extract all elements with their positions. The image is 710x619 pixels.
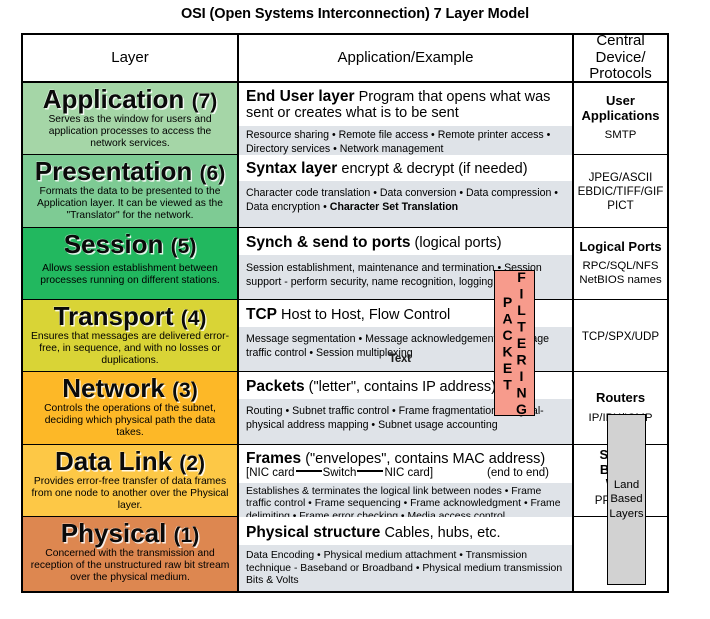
layer-cell-session: Session (5) Allows session establishment… [23,228,239,300]
header-central-device: Central Device/ Protocols [574,35,667,81]
layer-number: (6) [200,162,226,185]
app-headline-bold: TCP [246,306,277,323]
app-headline-rest: encrypt & decrypt (if needed) [341,161,527,177]
link-dash-icon [357,470,383,472]
layer-title-network: Network (3) [62,375,197,401]
layer-name-text: Presentation [35,156,193,186]
layer-name-text: Transport [54,301,174,331]
layer-number: (1) [174,524,200,547]
layer-description-datalink: Provides error-free transfer of data fra… [27,476,233,512]
app-headline-physical: Physical structure Cables, hubs, etc. [239,517,572,545]
land-based-line1: Land [609,478,643,493]
app-headline-bold: Frames [246,450,301,467]
layer-title-presentation: Presentation (6) [35,158,225,184]
layer-title-application: Application (7) [43,86,217,112]
land-based-line2: Based [609,492,643,507]
layer-description-transport: Ensures that messages are delivered erro… [27,331,233,367]
device-protocol-line3: PICT [578,199,664,213]
layer-description-physical: Concerned with the transmission and rece… [27,548,233,584]
app-detail-physical: Data Encoding • Physical medium attachme… [239,545,572,591]
app-headline-rest: ("letter", contains IP address) [309,379,496,395]
layer-cell-network: Network (3) Controls the operations of t… [23,372,239,445]
app-cell-application: End User layer Program that opens what w… [239,83,574,155]
layer-cell-presentation: Presentation (6) Formats the data to be … [23,155,239,228]
layer-title-datalink: Data Link (2) [55,448,205,474]
app-subline-right: (end to end) [487,467,549,481]
text-watermark-artifact: Text [389,353,411,365]
device-cell-session: Logical Ports RPC/SQL/NFS NetBIOS names [574,228,667,300]
table-header-row: Layer Application/Example Central Device… [23,35,667,83]
device-protocol-line2: EBDIC/TIFF/GIF [578,185,664,199]
osi-table: Layer Application/Example Central Device… [21,33,669,593]
app-cell-physical: Physical structure Cables, hubs, etc. Da… [239,517,574,591]
device-protocol-line2: NetBIOS names [579,274,661,287]
app-detail-bold: Character Set Translation [330,201,458,213]
layer-number: (5) [171,235,197,258]
page-title: OSI (Open Systems Interconnection) 7 Lay… [0,6,710,22]
header-application: Application/Example [239,35,574,81]
app-headline-session: Synch & send to ports (logical ports) [239,228,572,255]
land-based-layers-band: Land Based Layers [607,414,646,585]
app-headline-datalink: Frames ("envelopes", contains MAC addres… [239,445,572,467]
layer-row-transport: Transport (4) Ensures that messages are … [23,300,667,372]
layer-cell-transport: Transport (4) Ensures that messages are … [23,300,239,372]
app-headline-bold: End User layer [246,88,355,105]
app-headline-bold: Packets [246,378,305,395]
layer-title-transport: Transport (4) [54,303,207,329]
packet-filtering-band: PACKET FILTERING [494,270,535,416]
device-main-line1: User [581,94,659,109]
layer-row-network: Network (3) Controls the operations of t… [23,372,667,445]
layer-number: (7) [192,90,218,113]
link-dash-icon [296,470,322,472]
device-main-session: Logical Ports [579,240,661,255]
layer-row-presentation: Presentation (6) Formats the data to be … [23,155,667,228]
layer-number: (2) [179,452,205,475]
app-headline-application: End User layer Program that opens what w… [239,83,572,126]
layer-cell-physical: Physical (1) Concerned with the transmis… [23,517,239,591]
device-protocols-presentation: JPEG/ASCII EBDIC/TIFF/GIF PICT [578,171,664,212]
app-headline-bold: Physical structure [246,524,380,541]
app-detail-presentation: Character code translation • Data conver… [239,181,572,227]
device-main-line2: Applications [581,109,659,124]
land-based-label: Land Based Layers [609,478,643,522]
header-central-device-line2: Protocols [578,66,663,83]
device-cell-presentation: JPEG/ASCII EBDIC/TIFF/GIF PICT [574,155,667,228]
device-protocols-application: SMTP [605,129,637,142]
packet-vertical-label: PACKET [501,294,515,393]
osi-model-diagram: OSI (Open Systems Interconnection) 7 Lay… [0,0,710,619]
switch-label: Switch [323,467,357,479]
app-subline-left: [NIC cardSwitchNIC card] [246,467,433,481]
layer-description-application: Serves as the window for users and appli… [27,114,233,150]
layer-row-application: Application (7) Serves as the window for… [23,83,667,155]
layer-cell-application: Application (7) Serves as the window for… [23,83,239,155]
layer-title-physical: Physical (1) [61,520,199,546]
layer-description-presentation: Formats the data to be presented to the … [27,186,233,222]
app-cell-datalink: Frames ("envelopes", contains MAC addres… [239,445,574,517]
nic-left-label: [NIC card [246,467,295,479]
app-headline-rest: (logical ports) [415,235,502,251]
device-protocols-transport: TCP/SPX/UDP [582,330,659,344]
layer-cell-datalink: Data Link (2) Provides error-free transf… [23,445,239,517]
app-headline-presentation: Syntax layer encrypt & decrypt (if neede… [239,155,572,181]
device-main-application: User Applications [581,94,659,123]
header-central-device-line1: Central Device/ [578,33,663,67]
layer-description-network: Controls the operations of the subnet, d… [27,403,233,439]
app-headline-rest: ("envelopes", contains MAC address) [305,451,545,467]
layer-row-session: Session (5) Allows session establishment… [23,228,667,300]
layer-description-session: Allows session establishment between pro… [27,263,233,287]
filtering-vertical-label: FILTERING [515,269,529,418]
app-headline-rest: Host to Host, Flow Control [281,307,450,323]
device-protocol-line1: RPC/SQL/NFS [579,260,661,273]
device-protocol-line1: JPEG/ASCII [578,171,664,185]
device-main-network: Routers [596,391,645,406]
layer-row-datalink: Data Link (2) Provides error-free transf… [23,445,667,517]
device-cell-transport: TCP/SPX/UDP [574,300,667,372]
device-cell-application: User Applications SMTP [574,83,667,155]
layer-name-text: Data Link [55,446,172,476]
nic-right-label: NIC card] [384,467,433,479]
layer-name-text: Application [43,84,185,114]
header-layer: Layer [23,35,239,81]
layer-title-session: Session (5) [64,231,197,257]
app-headline-bold: Synch & send to ports [246,234,411,251]
layer-number: (4) [181,307,207,330]
device-protocols-session: RPC/SQL/NFS NetBIOS names [579,260,661,287]
app-headline-bold: Syntax layer [246,160,337,177]
land-based-line3: Layers [609,507,643,522]
layer-name-text: Session [64,229,164,259]
app-subline-datalink: [NIC cardSwitchNIC card] (end to end) [239,467,572,483]
app-cell-presentation: Syntax layer encrypt & decrypt (if neede… [239,155,574,228]
layer-name-text: Network [62,373,165,403]
layer-number: (3) [172,379,198,402]
layer-row-physical: Physical (1) Concerned with the transmis… [23,517,667,591]
app-headline-rest: Cables, hubs, etc. [384,525,500,541]
layer-name-text: Physical [61,518,167,548]
